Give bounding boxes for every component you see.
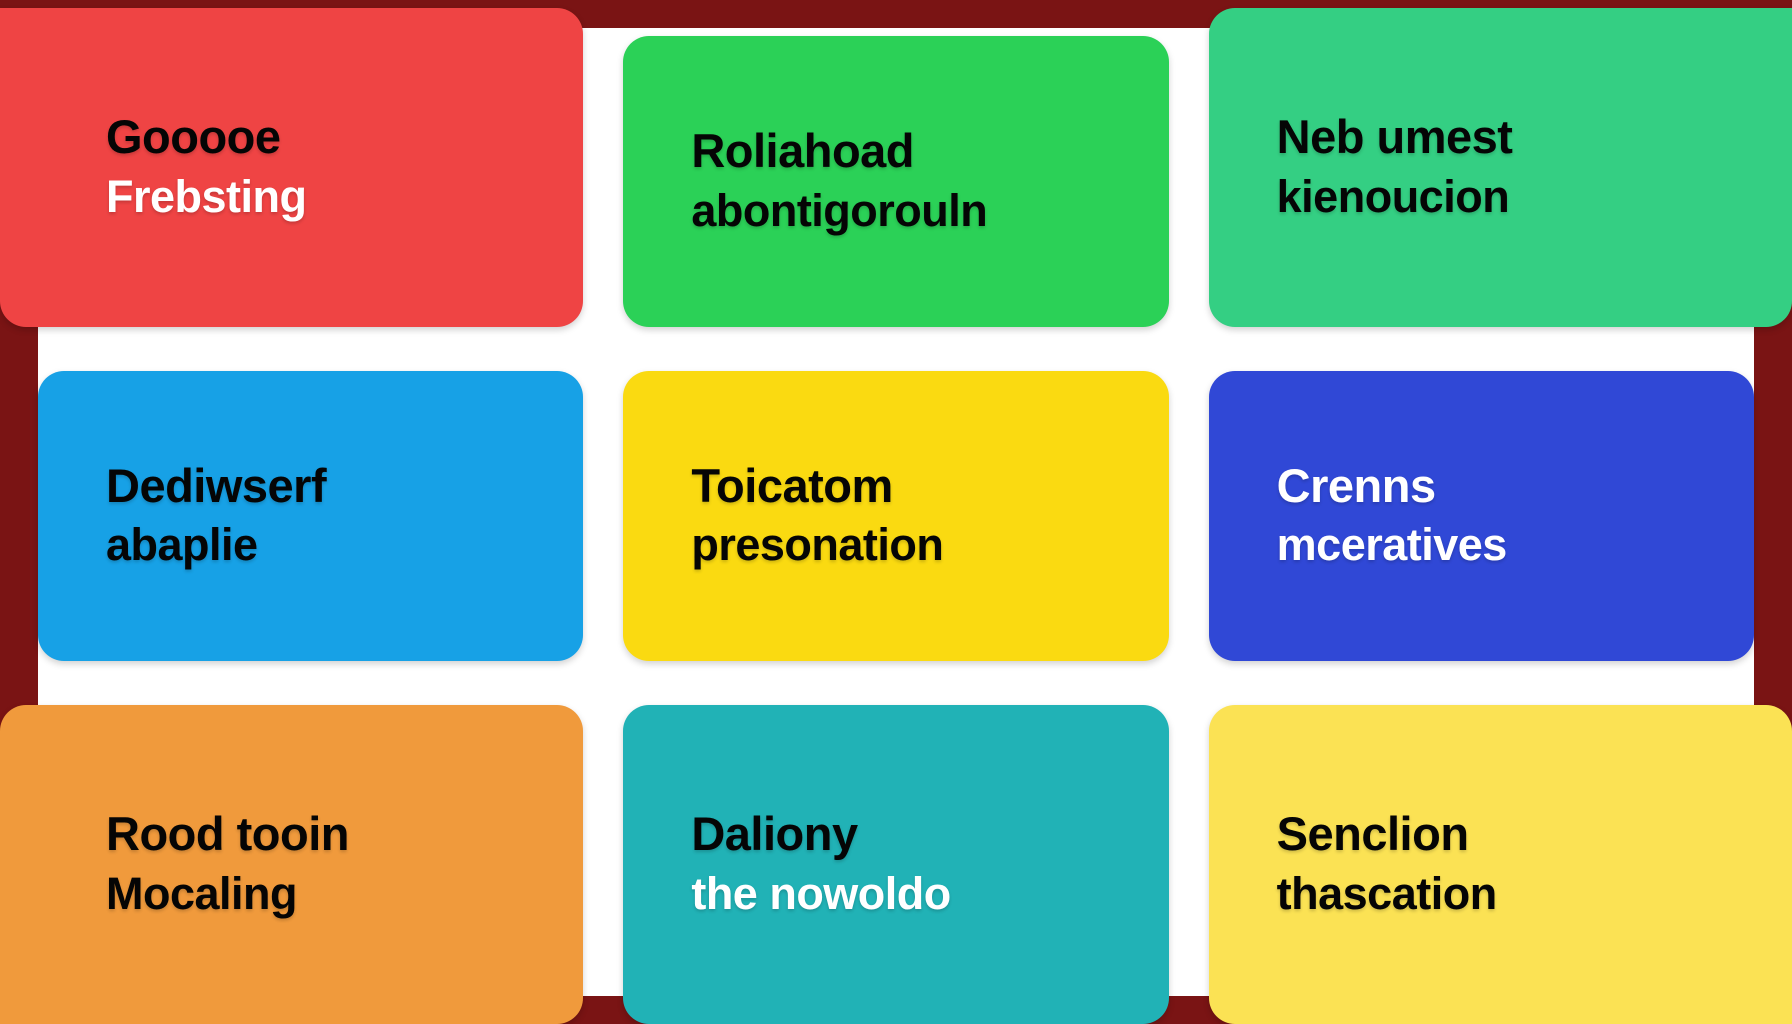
card-7[interactable]: Rood tooin Mocaling [0, 705, 583, 1024]
card-3[interactable]: Neb umest kienoucion [1209, 8, 1792, 327]
card-1-title: Gooooe [106, 112, 583, 162]
card-9-title: Senclion [1277, 809, 1792, 859]
card-4-subtitle: abaplie [106, 518, 583, 571]
card-6-title: Crenns [1277, 461, 1754, 511]
card-3-title: Neb umest [1277, 112, 1792, 162]
card-7-title: Rood tooin [106, 809, 583, 859]
card-7-subtitle: Mocaling [106, 867, 583, 920]
card-5[interactable]: Toicatom presonation [623, 371, 1168, 662]
card-grid: Gooooe Frebsting Roliahoad abontigorouln… [38, 28, 1754, 996]
card-4-title: Dediwserf [106, 461, 583, 511]
card-9[interactable]: Senclion thascation [1209, 705, 1792, 1024]
card-5-title: Toicatom [691, 461, 1168, 511]
card-6[interactable]: Crenns mceratives [1209, 371, 1754, 662]
card-4[interactable]: Dediwserf abaplie [38, 371, 583, 662]
card-1[interactable]: Gooooe Frebsting [0, 8, 583, 327]
card-2[interactable]: Roliahoad abontigorouln [623, 36, 1168, 327]
card-9-subtitle: thascation [1277, 867, 1792, 920]
card-6-subtitle: mceratives [1277, 518, 1754, 571]
card-2-title: Roliahoad [691, 126, 1168, 176]
card-5-subtitle: presonation [691, 518, 1168, 571]
card-8-subtitle: the nowoldo [691, 867, 1168, 920]
outer-frame: Gooooe Frebsting Roliahoad abontigorouln… [0, 0, 1792, 1024]
card-1-subtitle: Frebsting [106, 170, 583, 223]
card-8[interactable]: Daliony the nowoldo [623, 705, 1168, 1024]
card-3-subtitle: kienoucion [1277, 170, 1792, 223]
card-8-title: Daliony [691, 809, 1168, 859]
card-2-subtitle: abontigorouln [691, 184, 1168, 237]
